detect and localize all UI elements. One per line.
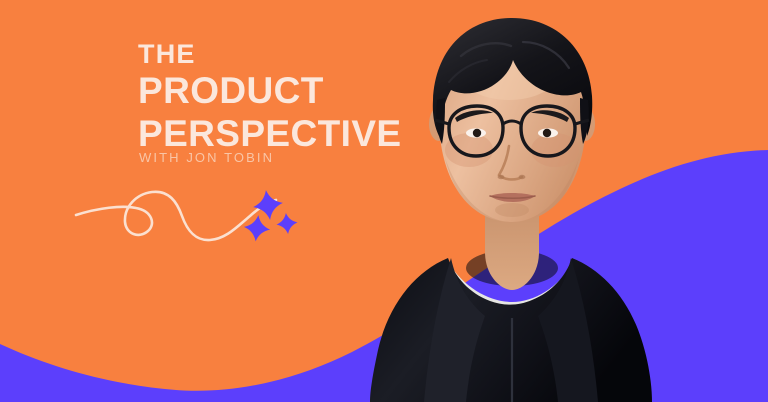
chin-shadow xyxy=(495,203,529,217)
squiggle-line-icon xyxy=(76,192,276,240)
nostril-left xyxy=(498,175,505,179)
sparkle-small-right-icon xyxy=(275,212,298,235)
pupil-left xyxy=(473,129,481,137)
host-credit-subtitle: WITH JON TOBIN xyxy=(139,150,274,165)
cheek-left xyxy=(445,133,493,167)
decorative-flourish-group xyxy=(70,178,310,258)
cheek-right xyxy=(531,133,579,167)
sparkle-large-top-icon xyxy=(251,188,285,222)
nostril-right xyxy=(519,175,526,179)
pupil-right xyxy=(543,129,551,137)
host-portrait-photo xyxy=(352,0,672,402)
head-group xyxy=(429,18,595,228)
podcast-cover-banner: THE PRODUCT PERSPECTIVE WITH JON TOBIN xyxy=(0,0,768,402)
